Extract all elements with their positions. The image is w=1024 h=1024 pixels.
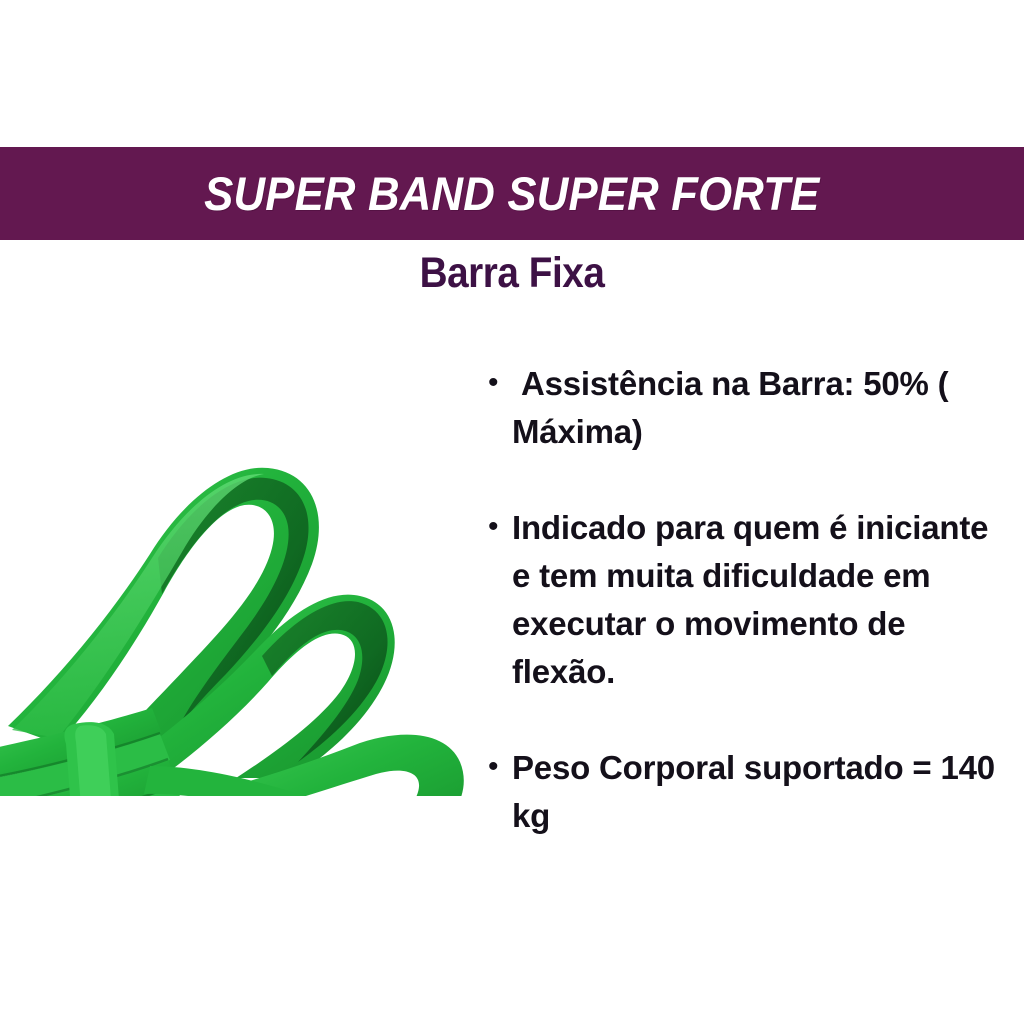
subtitle-text: Barra Fixa xyxy=(51,249,973,298)
title-banner: SUPER BAND SUPER FORTE xyxy=(0,147,1024,240)
list-item-text: Assistência na Barra: 50% ( Máxima) xyxy=(512,360,1012,456)
list-item: • Peso Corporal suportado = 140 kg xyxy=(488,744,1012,840)
bullet-dot-icon: • xyxy=(488,504,512,549)
product-image-green-resistance-band xyxy=(0,296,480,796)
bullet-dot-icon: • xyxy=(488,744,512,789)
list-item-text: Peso Corporal suportado = 140 kg xyxy=(512,744,1012,840)
product-infographic: SUPER BAND SUPER FORTE Barra Fixa • Assi… xyxy=(0,0,1024,1024)
list-item: • Indicado para quem é iniciante e tem m… xyxy=(488,504,1012,696)
resistance-band-illustration xyxy=(0,296,480,796)
bullet-dot-icon: • xyxy=(488,360,512,405)
band-loop-2-shadow xyxy=(262,601,388,762)
list-item: • Assistência na Barra: 50% ( Máxima) xyxy=(488,360,1012,456)
list-item-text: Indicado para quem é iniciante e tem mui… xyxy=(512,504,1012,696)
banner-title-text: SUPER BAND SUPER FORTE xyxy=(204,166,819,221)
feature-list: • Assistência na Barra: 50% ( Máxima) • … xyxy=(488,360,1012,840)
